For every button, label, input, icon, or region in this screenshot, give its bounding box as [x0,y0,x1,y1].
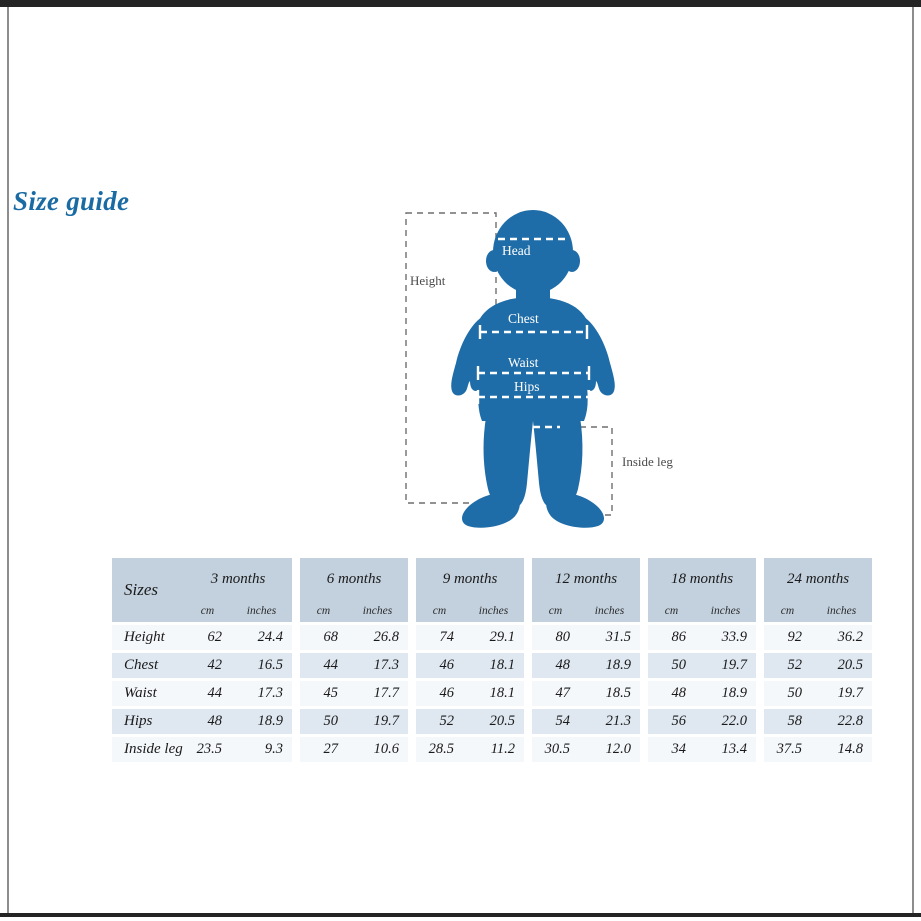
header-sizes-label: Sizes [112,558,184,622]
row-label-waist: Waist [112,681,184,706]
column-group-separator [408,625,416,650]
baby-measurement-diagram: Head Chest Waist Hips Height Inside leg [390,205,700,535]
diagram-label-hips: Hips [514,379,540,395]
cell-height-9-months-cm: 74 [416,625,463,650]
column-group-separator [292,709,300,734]
cell-hips-3-months-inches: 18.9 [231,709,292,734]
column-group-separator [408,558,416,600]
cell-inside-leg-12-months-inches: 12.0 [579,737,640,762]
column-group-separator [524,625,532,650]
column-group-separator [756,681,764,706]
row-label-chest: Chest [112,653,184,678]
cell-waist-3-months-cm: 44 [184,681,231,706]
cell-waist-18-months-inches: 18.9 [695,681,756,706]
column-group-separator [756,653,764,678]
column-group-separator [524,681,532,706]
column-group-separator [524,709,532,734]
header-unit-inches: inches [231,600,292,622]
cell-chest-24-months-cm: 52 [764,653,811,678]
cell-height-6-months-cm: 68 [300,625,347,650]
cell-waist-24-months-cm: 50 [764,681,811,706]
column-group-separator [408,737,416,762]
cell-inside-leg-3-months-cm: 23.5 [184,737,231,762]
page-border-left [7,7,9,913]
cell-inside-leg-12-months-cm: 30.5 [532,737,579,762]
cell-height-24-months-cm: 92 [764,625,811,650]
cell-chest-3-months-cm: 42 [184,653,231,678]
header-column-24-months: 24 months [764,558,872,600]
diagram-label-chest: Chest [508,311,539,327]
column-group-separator [756,709,764,734]
cell-waist-12-months-cm: 47 [532,681,579,706]
cell-chest-9-months-inches: 18.1 [463,653,524,678]
cell-hips-3-months-cm: 48 [184,709,231,734]
cell-waist-12-months-inches: 18.5 [579,681,640,706]
column-group-separator [756,737,764,762]
cell-chest-12-months-cm: 48 [532,653,579,678]
column-group-separator [408,709,416,734]
cell-chest-6-months-inches: 17.3 [347,653,408,678]
cell-height-6-months-inches: 26.8 [347,625,408,650]
size-guide-page: Size guide [0,0,921,921]
diagram-label-head: Head [502,243,530,259]
cell-height-24-months-inches: 36.2 [811,625,872,650]
table-row: Chest4216.54417.34618.14818.95019.75220.… [112,653,872,678]
size-chart-table: Sizes 3 months6 months9 months12 months1… [112,558,872,762]
row-label-inside-leg: Inside leg [112,737,184,762]
cell-inside-leg-24-months-inches: 14.8 [811,737,872,762]
baby-figure-svg [390,205,700,535]
row-label-hips: Hips [112,709,184,734]
column-group-separator [524,653,532,678]
column-group-separator [408,681,416,706]
column-group-separator [640,653,648,678]
cell-chest-24-months-inches: 20.5 [811,653,872,678]
column-group-separator [640,625,648,650]
cell-inside-leg-9-months-inches: 11.2 [463,737,524,762]
header-unit-cm: cm [300,600,347,622]
header-unit-cm: cm [184,600,231,622]
column-group-separator [292,625,300,650]
cell-hips-24-months-cm: 58 [764,709,811,734]
column-group-separator [756,600,764,622]
header-unit-inches: inches [579,600,640,622]
column-group-separator [292,653,300,678]
cell-height-3-months-inches: 24.4 [231,625,292,650]
column-group-separator [524,558,532,600]
cell-waist-9-months-inches: 18.1 [463,681,524,706]
table-row: Waist4417.34517.74618.14718.54818.95019.… [112,681,872,706]
column-group-separator [408,600,416,622]
column-group-separator [408,653,416,678]
header-unit-inches: inches [347,600,408,622]
table-header: Sizes 3 months6 months9 months12 months1… [112,558,872,622]
cell-inside-leg-3-months-inches: 9.3 [231,737,292,762]
cell-chest-6-months-cm: 44 [300,653,347,678]
table-row: Height6224.46826.87429.18031.58633.99236… [112,625,872,650]
cell-hips-9-months-cm: 52 [416,709,463,734]
cell-hips-24-months-inches: 22.8 [811,709,872,734]
cell-height-3-months-cm: 62 [184,625,231,650]
column-group-separator [640,558,648,600]
column-group-separator [292,737,300,762]
cell-inside-leg-9-months-cm: 28.5 [416,737,463,762]
cell-chest-18-months-inches: 19.7 [695,653,756,678]
header-column-18-months: 18 months [648,558,756,600]
column-group-separator [640,681,648,706]
cell-hips-18-months-cm: 56 [648,709,695,734]
cell-height-9-months-inches: 29.1 [463,625,524,650]
header-unit-inches: inches [695,600,756,622]
column-group-separator [640,737,648,762]
cell-inside-leg-18-months-cm: 34 [648,737,695,762]
header-column-3-months: 3 months [184,558,292,600]
cell-waist-18-months-cm: 48 [648,681,695,706]
cell-waist-6-months-cm: 45 [300,681,347,706]
column-group-separator [524,737,532,762]
cell-height-18-months-inches: 33.9 [695,625,756,650]
column-group-separator [292,558,300,600]
cell-chest-12-months-inches: 18.9 [579,653,640,678]
table-body: Height6224.46826.87429.18031.58633.99236… [112,622,872,762]
header-unit-inches: inches [463,600,524,622]
cell-inside-leg-6-months-cm: 27 [300,737,347,762]
table-row: Inside leg23.59.32710.628.511.230.512.03… [112,737,872,762]
cell-height-12-months-inches: 31.5 [579,625,640,650]
cell-hips-6-months-inches: 19.7 [347,709,408,734]
cell-inside-leg-6-months-inches: 10.6 [347,737,408,762]
cell-height-18-months-cm: 86 [648,625,695,650]
cell-inside-leg-18-months-inches: 13.4 [695,737,756,762]
cell-height-12-months-cm: 80 [532,625,579,650]
cell-waist-24-months-inches: 19.7 [811,681,872,706]
row-label-height: Height [112,625,184,650]
column-group-separator [292,600,300,622]
cell-hips-6-months-cm: 50 [300,709,347,734]
column-group-separator [756,558,764,600]
diagram-label-inside-leg: Inside leg [622,454,673,470]
cell-hips-12-months-inches: 21.3 [579,709,640,734]
header-column-12-months: 12 months [532,558,640,600]
table-header-unit-row: cminchescminchescminchescminchescminches… [112,600,872,622]
cell-waist-3-months-inches: 17.3 [231,681,292,706]
header-column-6-months: 6 months [300,558,408,600]
column-group-separator [640,600,648,622]
cell-chest-3-months-inches: 16.5 [231,653,292,678]
header-unit-cm: cm [648,600,695,622]
diagram-label-waist: Waist [508,355,538,371]
cell-chest-9-months-cm: 46 [416,653,463,678]
header-unit-cm: cm [416,600,463,622]
page-border-top [0,0,921,7]
header-unit-cm: cm [532,600,579,622]
header-unit-cm: cm [764,600,811,622]
cell-waist-9-months-cm: 46 [416,681,463,706]
diagram-label-height: Height [410,273,445,289]
cell-chest-18-months-cm: 50 [648,653,695,678]
column-group-separator [524,600,532,622]
table-row: Hips4818.95019.75220.55421.35622.05822.8 [112,709,872,734]
cell-hips-18-months-inches: 22.0 [695,709,756,734]
cell-waist-6-months-inches: 17.7 [347,681,408,706]
table-header-group-row: Sizes 3 months6 months9 months12 months1… [112,558,872,600]
page-border-bottom [0,913,921,917]
column-group-separator [640,709,648,734]
page-border-right [912,7,914,913]
header-column-9-months: 9 months [416,558,524,600]
column-group-separator [756,625,764,650]
cell-hips-9-months-inches: 20.5 [463,709,524,734]
page-title: Size guide [13,186,129,217]
column-group-separator [292,681,300,706]
header-unit-inches: inches [811,600,872,622]
cell-hips-12-months-cm: 54 [532,709,579,734]
cell-inside-leg-24-months-cm: 37.5 [764,737,811,762]
